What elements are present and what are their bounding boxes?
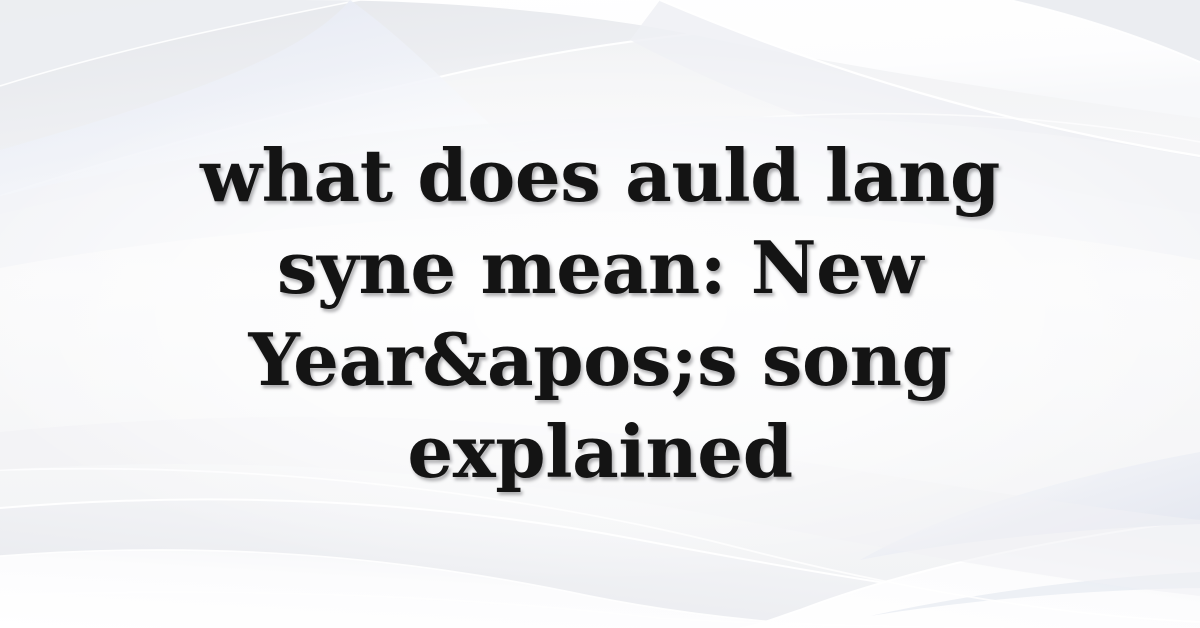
headline-container: what does auld lang syne mean: New Year&… — [0, 0, 1200, 628]
social-preview-card: what does auld lang syne mean: New Year&… — [0, 0, 1200, 628]
page-title: what does auld lang syne mean: New Year&… — [100, 130, 1100, 498]
